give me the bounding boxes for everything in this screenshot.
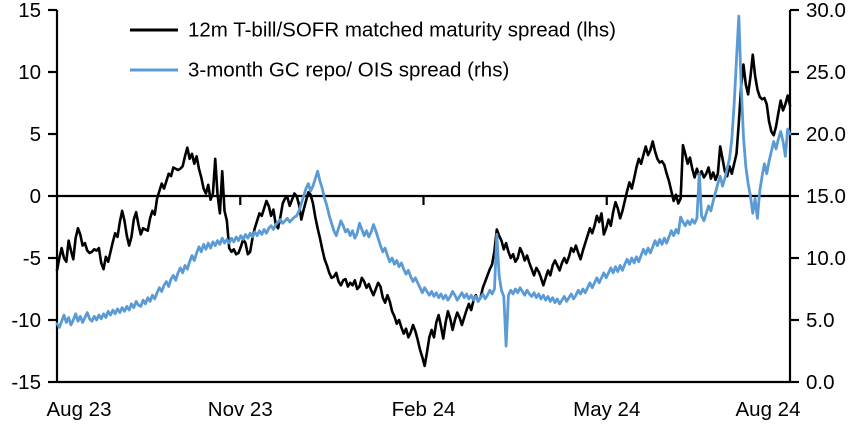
right-axis-tick-label: 30.0 (806, 0, 846, 22)
right-axis-tick-label: 20.0 (806, 123, 846, 146)
right-axis-tick-label: 10.0 (806, 247, 846, 270)
right-axis-tick-label: 5.0 (806, 309, 835, 332)
left-axis-tick-label: 0 (30, 185, 41, 208)
left-axis-tick-label: 15 (18, 0, 41, 22)
left-axis-tick-label: 5 (30, 123, 41, 146)
left-axis-tick-label: -10 (11, 309, 41, 332)
chart-container: 151050-5-10-15 30.025.020.015.010.05.00.… (0, 0, 852, 432)
right-axis-tick-label: 0.0 (806, 371, 835, 394)
left-axis-tick-label: 10 (18, 61, 41, 84)
line-chart: 151050-5-10-15 30.025.020.015.010.05.00.… (0, 0, 852, 432)
right-axis-tick-label: 15.0 (806, 185, 846, 208)
x-axis-tick-label: Aug 24 (736, 398, 801, 421)
left-axis-tick-label: -5 (23, 247, 41, 270)
legend-label: 3-month GC repo/ OIS spread (rhs) (188, 58, 509, 81)
x-axis-tick-label: Nov 23 (208, 398, 273, 421)
right-axis-tick-label: 25.0 (806, 61, 846, 84)
left-axis-tick-label: -15 (11, 371, 41, 394)
x-axis-tick-label: Aug 23 (47, 398, 112, 421)
x-axis-tick-label: May 24 (573, 398, 640, 421)
legend-label: 12m T-bill/SOFR matched maturity spread … (188, 18, 616, 41)
x-axis-tick-label: Feb 24 (392, 398, 456, 421)
